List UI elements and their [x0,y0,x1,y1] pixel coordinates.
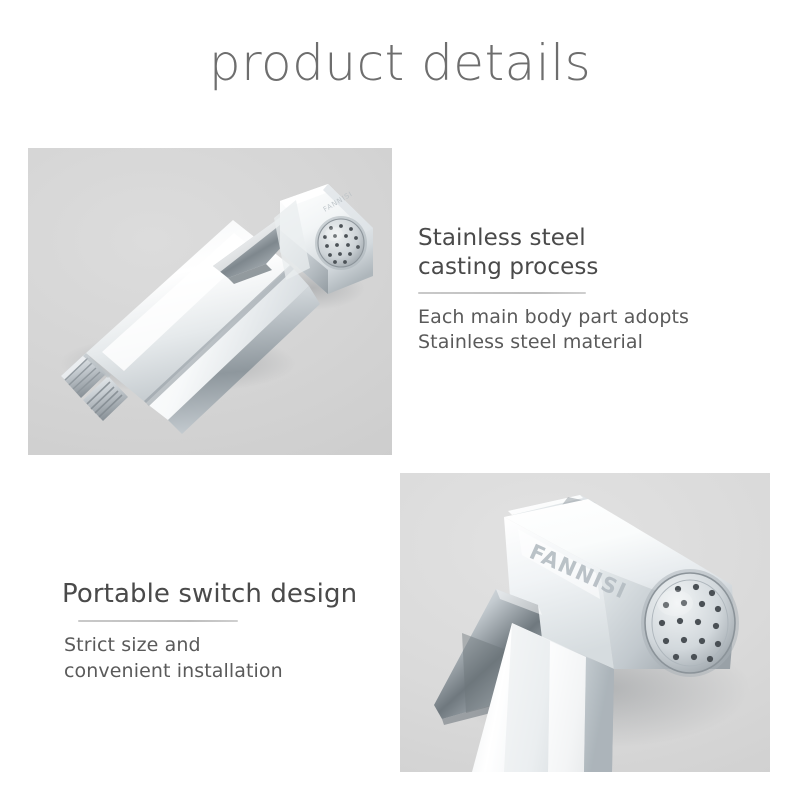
bidet-sprayer-head-illustration: FANNISI [400,473,770,772]
feature-block-stainless-steel: Stainless steel casting process Each mai… [418,224,718,356]
feature-body: Each main body part adopts Stainless ste… [418,305,718,356]
spray-nozzle-face [641,569,739,677]
product-photo-full-body: FANNISI [28,148,392,455]
feature-divider [418,292,586,294]
spray-nozzle-face [315,216,367,270]
feature-heading: Stainless steel casting process [418,224,718,283]
feature-divider [78,620,238,622]
feature-heading: Portable switch design [62,578,392,611]
page-title: product details [0,36,800,91]
product-photo-head-closeup: FANNISI [400,473,770,772]
feature-block-portable-switch: Portable switch design Strict size and c… [62,578,392,684]
bidet-sprayer-illustration: FANNISI [28,148,392,455]
feature-body: Strict size and convenient installation [64,633,392,684]
